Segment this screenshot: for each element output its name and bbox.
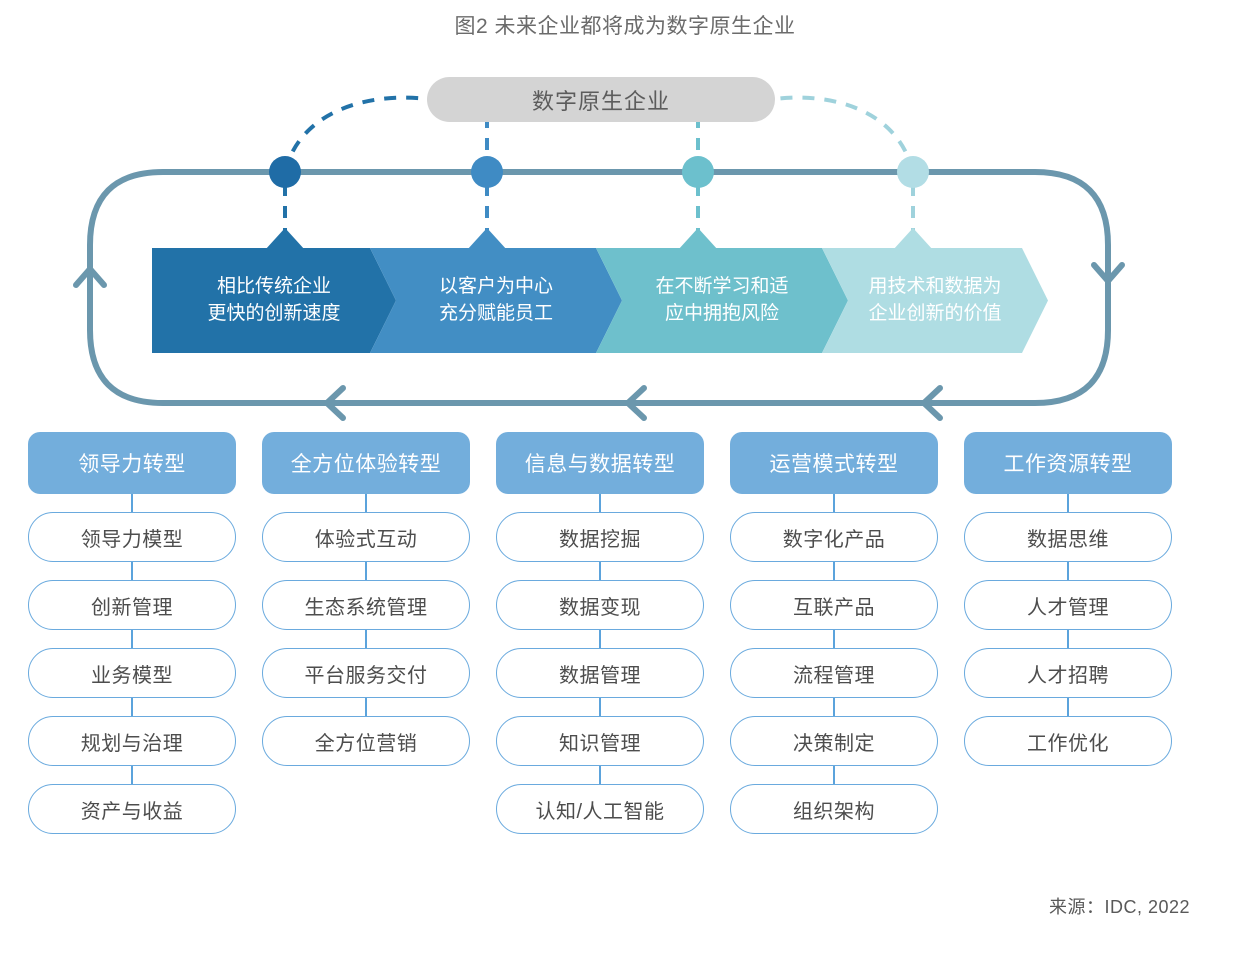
column-item[interactable]: 数字化产品	[730, 512, 938, 562]
column-item[interactable]: 数据变现	[496, 580, 704, 630]
badge-connector-curve-4	[775, 98, 913, 172]
cycle-loop-diagram	[0, 0, 1250, 440]
column-item[interactable]: 数据管理	[496, 648, 704, 698]
column-connector-line	[833, 562, 835, 580]
chevron-stage-2[interactable]: 以客户为中心 充分赋能员工	[370, 248, 622, 353]
chevron-notch-1	[265, 228, 305, 250]
chevron-stage-3-line1: 在不断学习和适	[655, 276, 788, 297]
column-item[interactable]: 人才招聘	[964, 648, 1172, 698]
column-header[interactable]: 运营模式转型	[730, 432, 938, 494]
badge-connector-curve-1	[285, 98, 427, 172]
column-item[interactable]: 人才管理	[964, 580, 1172, 630]
column-header[interactable]: 全方位体验转型	[262, 432, 470, 494]
column-connector-line	[833, 698, 835, 716]
transformation-column: 信息与数据转型数据挖掘数据变现数据管理知识管理认知/人工智能	[496, 432, 704, 834]
chevron-stage-1-line1: 相比传统企业	[217, 276, 331, 297]
chevron-notch-2	[467, 228, 507, 250]
transformation-column: 全方位体验转型体验式互动生态系统管理平台服务交付全方位营销	[262, 432, 470, 834]
column-header[interactable]: 工作资源转型	[964, 432, 1172, 494]
chevron-stage-4-line1: 用技术和数据为	[868, 276, 1001, 297]
column-item[interactable]: 认知/人工智能	[496, 784, 704, 834]
column-connector-line	[599, 630, 601, 648]
column-header[interactable]: 领导力转型	[28, 432, 236, 494]
chevron-stage-3[interactable]: 在不断学习和适 应中拥抱风险	[596, 248, 848, 353]
column-connector-line	[1067, 630, 1069, 648]
column-item[interactable]: 平台服务交付	[262, 648, 470, 698]
transformation-columns: 领导力转型领导力模型创新管理业务模型规划与治理资产与收益全方位体验转型体验式互动…	[28, 432, 1222, 834]
chevron-stage-3-line2: 应中拥抱风险	[665, 303, 779, 324]
chevron-stage-4-line2: 企业创新的价值	[868, 303, 1001, 324]
chevron-stage-2-line1: 以客户为中心	[439, 276, 553, 297]
column-connector-line	[833, 630, 835, 648]
digital-native-badge-label: 数字原生企业	[532, 84, 670, 116]
column-connector-line	[1067, 698, 1069, 716]
column-item[interactable]: 知识管理	[496, 716, 704, 766]
milestone-dot-4[interactable]	[897, 156, 929, 188]
column-item[interactable]: 资产与收益	[28, 784, 236, 834]
chevron-stage-1-line2: 更快的创新速度	[207, 303, 340, 324]
column-item[interactable]: 规划与治理	[28, 716, 236, 766]
chevron-notch-3	[678, 228, 718, 250]
column-connector-line	[131, 494, 133, 512]
source-note: 来源：IDC, 2022	[1049, 893, 1190, 919]
column-connector-line	[365, 630, 367, 648]
column-item[interactable]: 创新管理	[28, 580, 236, 630]
column-item[interactable]: 决策制定	[730, 716, 938, 766]
column-connector-line	[365, 562, 367, 580]
transformation-column: 运营模式转型数字化产品互联产品流程管理决策制定组织架构	[730, 432, 938, 834]
column-item[interactable]: 流程管理	[730, 648, 938, 698]
chevron-stage-row: 相比传统企业 更快的创新速度 以客户为中心 充分赋能员工 在不断学习和适 应中拥…	[152, 248, 1048, 353]
column-connector-line	[131, 630, 133, 648]
column-connector-line	[599, 494, 601, 512]
milestone-dot-1[interactable]	[269, 156, 301, 188]
column-item[interactable]: 工作优化	[964, 716, 1172, 766]
digital-native-badge: 数字原生企业	[427, 77, 775, 122]
column-item[interactable]: 体验式互动	[262, 512, 470, 562]
column-item[interactable]: 数据挖掘	[496, 512, 704, 562]
column-item[interactable]: 数据思维	[964, 512, 1172, 562]
column-connector-line	[833, 494, 835, 512]
transformation-column: 工作资源转型数据思维人才管理人才招聘工作优化	[964, 432, 1172, 834]
chevron-notch-4	[893, 228, 933, 250]
column-connector-line	[131, 766, 133, 784]
column-item[interactable]: 组织架构	[730, 784, 938, 834]
column-connector-line	[365, 494, 367, 512]
column-connector-line	[599, 698, 601, 716]
chevron-stage-4[interactable]: 用技术和数据为 企业创新的价值	[822, 248, 1048, 353]
column-header[interactable]: 信息与数据转型	[496, 432, 704, 494]
column-item[interactable]: 生态系统管理	[262, 580, 470, 630]
chevron-stage-1[interactable]: 相比传统企业 更快的创新速度	[152, 248, 396, 353]
column-connector-line	[1067, 562, 1069, 580]
column-connector-line	[131, 698, 133, 716]
column-connector-line	[1067, 494, 1069, 512]
column-item[interactable]: 全方位营销	[262, 716, 470, 766]
column-item[interactable]: 业务模型	[28, 648, 236, 698]
column-connector-line	[833, 766, 835, 784]
column-connector-line	[365, 698, 367, 716]
milestone-dot-3[interactable]	[682, 156, 714, 188]
chevron-stage-2-line2: 充分赋能员工	[439, 303, 553, 324]
column-connector-line	[599, 766, 601, 784]
column-connector-line	[131, 562, 133, 580]
milestone-dot-2[interactable]	[471, 156, 503, 188]
transformation-column: 领导力转型领导力模型创新管理业务模型规划与治理资产与收益	[28, 432, 236, 834]
column-item[interactable]: 互联产品	[730, 580, 938, 630]
column-connector-line	[599, 562, 601, 580]
column-item[interactable]: 领导力模型	[28, 512, 236, 562]
